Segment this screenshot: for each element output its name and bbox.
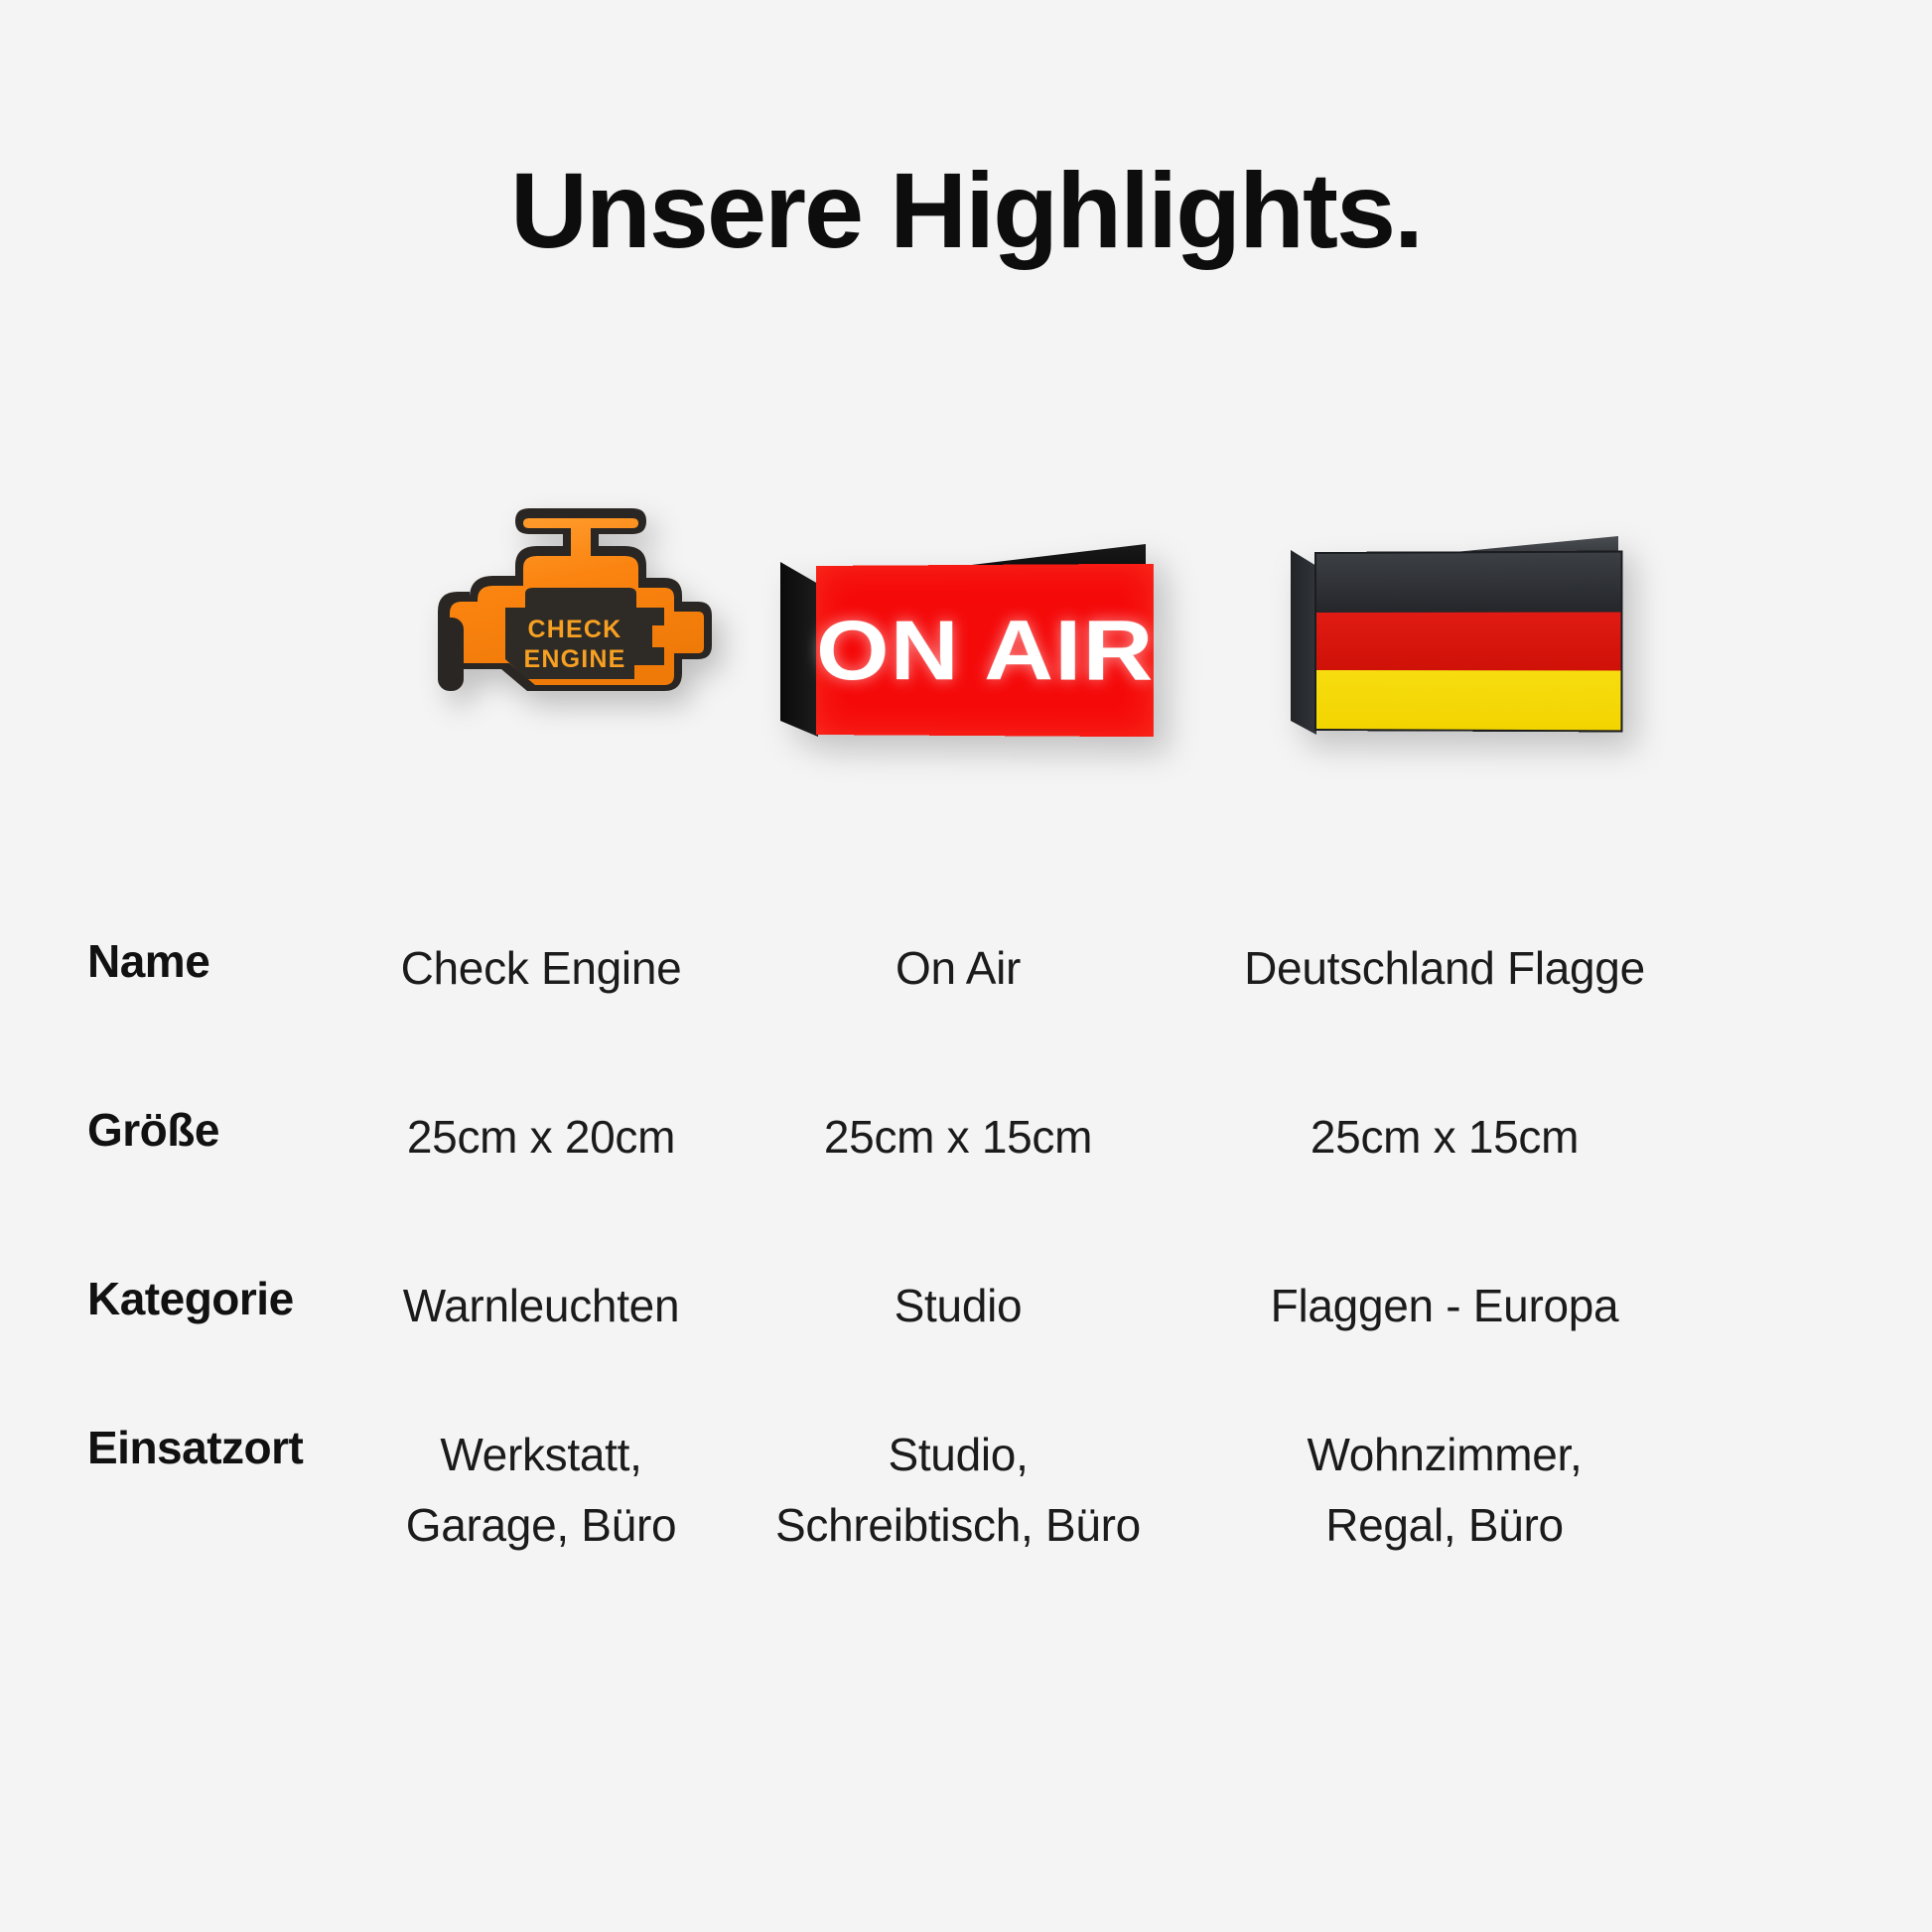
germany-flag-light-box (1291, 536, 1618, 735)
cell-name-check-engine: Check Engine (333, 933, 750, 1004)
product-image-on-air[interactable]: ON AIR (755, 437, 1172, 735)
cell-line: On Air (750, 933, 1167, 1004)
cell-line: Werkstatt, (333, 1420, 750, 1490)
table-row-groesse: Größe 25cm x 20cm 25cm x 15cm 25cm x 15c… (0, 1102, 1932, 1271)
row-label-name: Name (0, 933, 333, 991)
row-label-groesse: Größe (0, 1102, 333, 1160)
cell-line: Studio (750, 1271, 1167, 1341)
table-row-kategorie: Kategorie Warnleuchten Studio Flaggen - … (0, 1271, 1932, 1420)
check-engine-icon: CHECK ENGINE (362, 486, 720, 735)
table-row-einsatzort: Einsatzort Werkstatt, Garage, Büro Studi… (0, 1420, 1932, 1618)
cell-line: Flaggen - Europa (1167, 1271, 1723, 1341)
row-label-einsatzort: Einsatzort (0, 1420, 333, 1477)
table-row-name: Name Check Engine On Air Deutschland Fla… (0, 933, 1932, 1102)
highlights-page: Unsere Highlights. (0, 0, 1932, 1932)
flag-band-red (1316, 612, 1620, 671)
cell-line: Deutschland Flagge (1167, 933, 1723, 1004)
product-image-check-engine[interactable]: CHECK ENGINE (333, 437, 750, 735)
cell-kategorie-check-engine: Warnleuchten (333, 1271, 750, 1341)
cell-name-deutschland-flagge: Deutschland Flagge (1167, 933, 1723, 1004)
flag-band-gold (1316, 670, 1620, 730)
cell-line: Check Engine (333, 933, 750, 1004)
cell-kategorie-on-air: Studio (750, 1271, 1167, 1341)
cell-line: 25cm x 20cm (333, 1102, 750, 1173)
cell-line: Schreibtisch, Büro (750, 1490, 1167, 1561)
cell-groesse-check-engine: 25cm x 20cm (333, 1102, 750, 1173)
svg-text:ENGINE: ENGINE (523, 645, 625, 673)
cell-line: 25cm x 15cm (750, 1102, 1167, 1173)
cell-line: Regal, Büro (1167, 1490, 1723, 1561)
cell-line: Studio, (750, 1420, 1167, 1490)
cell-groesse-on-air: 25cm x 15cm (750, 1102, 1167, 1173)
on-air-light-box: ON AIR (780, 544, 1146, 735)
cell-einsatzort-deutschland-flagge: Wohnzimmer, Regal, Büro (1167, 1420, 1723, 1562)
on-air-label: ON AIR (816, 601, 1154, 700)
cell-einsatzort-check-engine: Werkstatt, Garage, Büro (333, 1420, 750, 1562)
product-image-deutschland-flagge[interactable] (1176, 437, 1732, 735)
cell-name-on-air: On Air (750, 933, 1167, 1004)
cell-line: 25cm x 15cm (1167, 1102, 1723, 1173)
on-air-front-face: ON AIR (816, 564, 1154, 737)
row-label-kategorie: Kategorie (0, 1271, 333, 1328)
cell-groesse-deutschland-flagge: 25cm x 15cm (1167, 1102, 1723, 1173)
cell-kategorie-deutschland-flagge: Flaggen - Europa (1167, 1271, 1723, 1341)
cell-line: Garage, Büro (333, 1490, 750, 1561)
cell-line: Warnleuchten (333, 1271, 750, 1341)
flag-front-face (1314, 551, 1623, 733)
cell-line: Wohnzimmer, (1167, 1420, 1723, 1490)
page-title: Unsere Highlights. (0, 149, 1932, 272)
spec-table: Name Check Engine On Air Deutschland Fla… (0, 933, 1932, 1618)
cell-einsatzort-on-air: Studio, Schreibtisch, Büro (750, 1420, 1167, 1562)
svg-text:CHECK: CHECK (528, 616, 622, 643)
flag-band-black (1316, 553, 1620, 613)
product-image-row: CHECK ENGINE ON AIR (0, 437, 1932, 735)
on-air-side-face (780, 562, 820, 737)
